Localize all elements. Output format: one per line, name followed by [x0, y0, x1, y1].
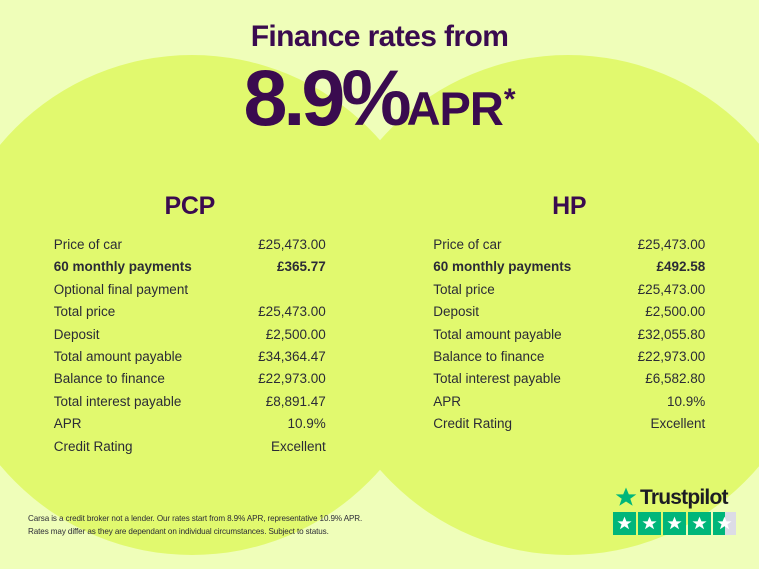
- trustpilot-wordmark: Trustpilot: [615, 487, 741, 508]
- finance-plans: PCP Price of car £25,473.00 60 monthly p…: [0, 192, 759, 461]
- row-value: £25,473.00: [638, 237, 706, 252]
- row-label: Balance to finance: [54, 371, 165, 386]
- row-label: 60 monthly payments: [433, 259, 571, 274]
- row-label: Credit Rating: [433, 416, 512, 431]
- row-label: 60 monthly payments: [54, 259, 192, 274]
- headline-rate: 8.9% APR *: [0, 58, 759, 137]
- table-row: Deposit £2,500.00: [54, 327, 326, 349]
- table-row: Total price £25,473.00: [54, 304, 326, 326]
- row-value: £6,582.80: [645, 371, 705, 386]
- plan-pcp-title: PCP: [54, 192, 326, 221]
- promo-card: Finance rates from 8.9% APR * PCP Price …: [0, 0, 759, 569]
- table-row: Total interest payable £8,891.47: [54, 394, 326, 416]
- table-row: Credit Rating Excellent: [433, 416, 705, 438]
- row-label: Total price: [433, 282, 495, 297]
- disclaimer-line-1: Carsa is a credit broker not a lender. O…: [28, 513, 448, 526]
- plan-hp: HP Price of car £25,473.00 60 monthly pa…: [380, 192, 759, 461]
- row-value: £8,891.47: [266, 394, 326, 409]
- row-label: Total amount payable: [54, 349, 182, 364]
- row-value: £32,055.80: [638, 327, 706, 342]
- legal-disclaimer: Carsa is a credit broker not a lender. O…: [28, 513, 448, 538]
- table-row: APR 10.9%: [433, 394, 705, 416]
- table-row: Price of car £25,473.00: [54, 237, 326, 259]
- row-value: £22,973.00: [638, 349, 706, 364]
- page-title: Finance rates from: [0, 22, 759, 52]
- table-row: Total amount payable £34,364.47: [54, 349, 326, 371]
- row-label: Total price: [54, 304, 116, 319]
- row-label: Credit Rating: [54, 439, 133, 454]
- row-value: £492.58: [656, 259, 705, 274]
- table-row: APR 10.9%: [54, 416, 326, 438]
- row-value: 10.9%: [287, 416, 325, 431]
- table-row: Optional final payment: [54, 282, 326, 304]
- row-label: Deposit: [433, 304, 479, 319]
- row-value: £22,973.00: [258, 371, 326, 386]
- table-row: Deposit £2,500.00: [433, 304, 705, 326]
- star-full-4: [688, 512, 711, 535]
- row-value: £34,364.47: [258, 349, 326, 364]
- table-row: Total amount payable £32,055.80: [433, 327, 705, 349]
- table-row: 60 monthly payments £492.58: [433, 259, 705, 281]
- disclaimer-line-2: Rates may differ as they are dependant o…: [28, 526, 448, 539]
- table-row: Price of car £25,473.00: [433, 237, 705, 259]
- plan-pcp: PCP Price of car £25,473.00 60 monthly p…: [0, 192, 380, 461]
- plan-pcp-rows: Price of car £25,473.00 60 monthly payme…: [54, 237, 326, 461]
- header: Finance rates from 8.9% APR *: [0, 0, 759, 137]
- trustpilot-rating-stars: [613, 512, 741, 535]
- star-full-2: [638, 512, 661, 535]
- row-label: Balance to finance: [433, 349, 544, 364]
- rate-value: 8.9%: [244, 58, 408, 137]
- table-row: Balance to finance £22,973.00: [54, 371, 326, 393]
- table-row: 60 monthly payments £365.77: [54, 259, 326, 281]
- row-value: Excellent: [271, 439, 326, 454]
- row-label: APR: [433, 394, 461, 409]
- row-label: Total amount payable: [433, 327, 561, 342]
- row-value: Excellent: [650, 416, 705, 431]
- row-label: Price of car: [54, 237, 122, 252]
- row-label: Price of car: [433, 237, 501, 252]
- row-value: £2,500.00: [645, 304, 705, 319]
- trustpilot-name: Trustpilot: [640, 487, 728, 508]
- row-label: Optional final payment: [54, 282, 188, 297]
- table-row: Total price £25,473.00: [433, 282, 705, 304]
- row-label: Total interest payable: [433, 371, 561, 386]
- star-full-3: [663, 512, 686, 535]
- rate-asterisk: *: [504, 85, 516, 115]
- row-label: Total interest payable: [54, 394, 182, 409]
- table-row: Total interest payable £6,582.80: [433, 371, 705, 393]
- row-value: £25,473.00: [258, 304, 326, 319]
- row-value: £25,473.00: [258, 237, 326, 252]
- star-half-5: [713, 512, 736, 535]
- plan-hp-title: HP: [433, 192, 705, 221]
- row-value: £25,473.00: [638, 282, 706, 297]
- row-value: 10.9%: [667, 394, 705, 409]
- row-label: APR: [54, 416, 82, 431]
- table-row: Balance to finance £22,973.00: [433, 349, 705, 371]
- row-label: Deposit: [54, 327, 100, 342]
- star-full-1: [613, 512, 636, 535]
- row-value: £365.77: [277, 259, 326, 274]
- trustpilot-star-icon: [615, 487, 637, 508]
- rate-suffix: APR: [407, 85, 503, 132]
- plan-hp-rows: Price of car £25,473.00 60 monthly payme…: [433, 237, 705, 439]
- row-value: £2,500.00: [266, 327, 326, 342]
- trustpilot-widget[interactable]: Trustpilot: [613, 487, 741, 535]
- table-row: Credit Rating Excellent: [54, 439, 326, 461]
